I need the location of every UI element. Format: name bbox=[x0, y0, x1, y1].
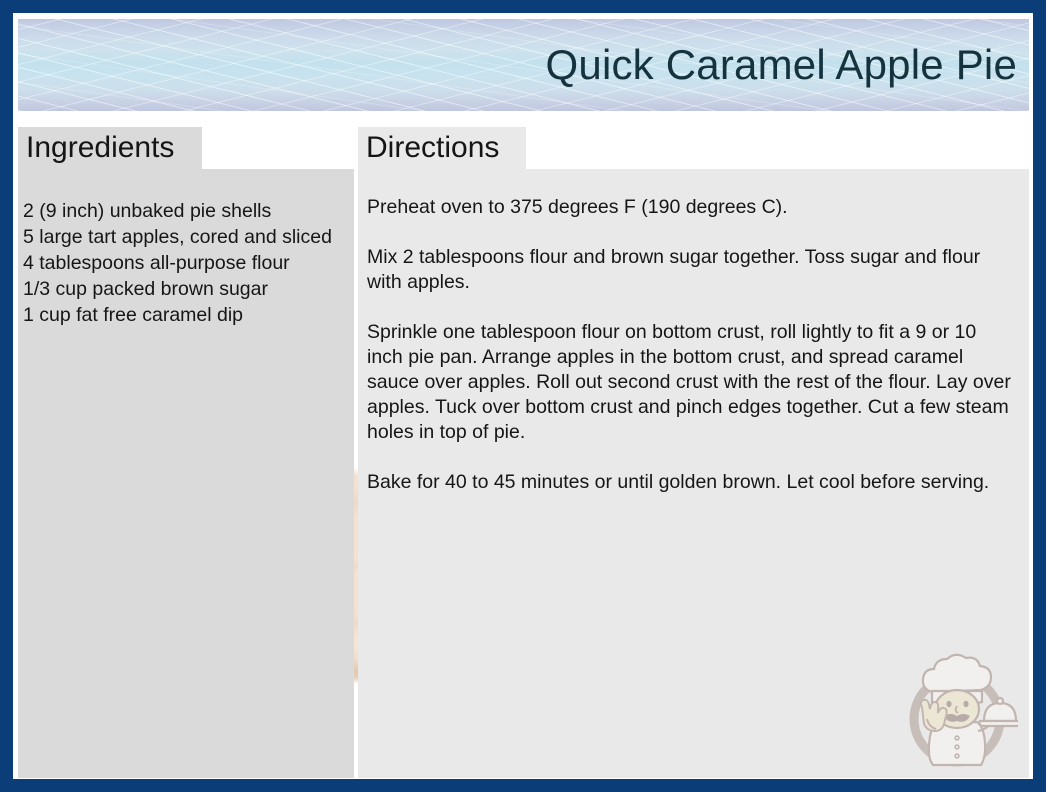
direction-step: Sprinkle one tablespoon flour on bottom … bbox=[367, 320, 1013, 445]
list-item: 1 cup fat free caramel dip bbox=[23, 302, 344, 328]
recipe-card-page: Quick Caramel Apple Pie Ingredients 2 (9… bbox=[0, 0, 1046, 792]
direction-step: Preheat oven to 375 degrees F (190 degre… bbox=[367, 195, 1013, 220]
directions-heading: Directions bbox=[358, 133, 499, 163]
directions-panel: Directions Preheat oven to 375 degrees F… bbox=[358, 127, 1029, 778]
page-title: Quick Caramel Apple Pie bbox=[546, 41, 1017, 89]
ingredients-panel: Ingredients 2 (9 inch) unbaked pie shell… bbox=[18, 127, 354, 778]
frame-right bbox=[1033, 0, 1046, 792]
ingredients-list: 2 (9 inch) unbaked pie shells 5 large ta… bbox=[18, 169, 354, 328]
direction-step: Bake for 40 to 45 minutes or until golde… bbox=[367, 470, 1013, 495]
list-item: 2 (9 inch) unbaked pie shells bbox=[23, 198, 344, 224]
frame-bottom bbox=[0, 779, 1046, 792]
ingredients-body: 2 (9 inch) unbaked pie shells 5 large ta… bbox=[18, 169, 354, 778]
direction-step: Mix 2 tablespoons flour and brown sugar … bbox=[367, 245, 1013, 295]
directions-header-tab: Directions bbox=[358, 127, 526, 169]
ingredients-heading: Ingredients bbox=[18, 133, 174, 163]
list-item: 1/3 cup packed brown sugar bbox=[23, 276, 344, 302]
title-banner: Quick Caramel Apple Pie bbox=[18, 19, 1029, 111]
directions-body-wrap: Preheat oven to 375 degrees F (190 degre… bbox=[358, 169, 1029, 778]
list-item: 4 tablespoons all-purpose flour bbox=[23, 250, 344, 276]
ingredients-header-tab: Ingredients bbox=[18, 127, 202, 169]
directions-steps: Preheat oven to 375 degrees F (190 degre… bbox=[358, 169, 1029, 495]
frame-top bbox=[0, 0, 1046, 13]
frame-left bbox=[0, 0, 13, 792]
list-item: 5 large tart apples, cored and sliced bbox=[23, 224, 344, 250]
